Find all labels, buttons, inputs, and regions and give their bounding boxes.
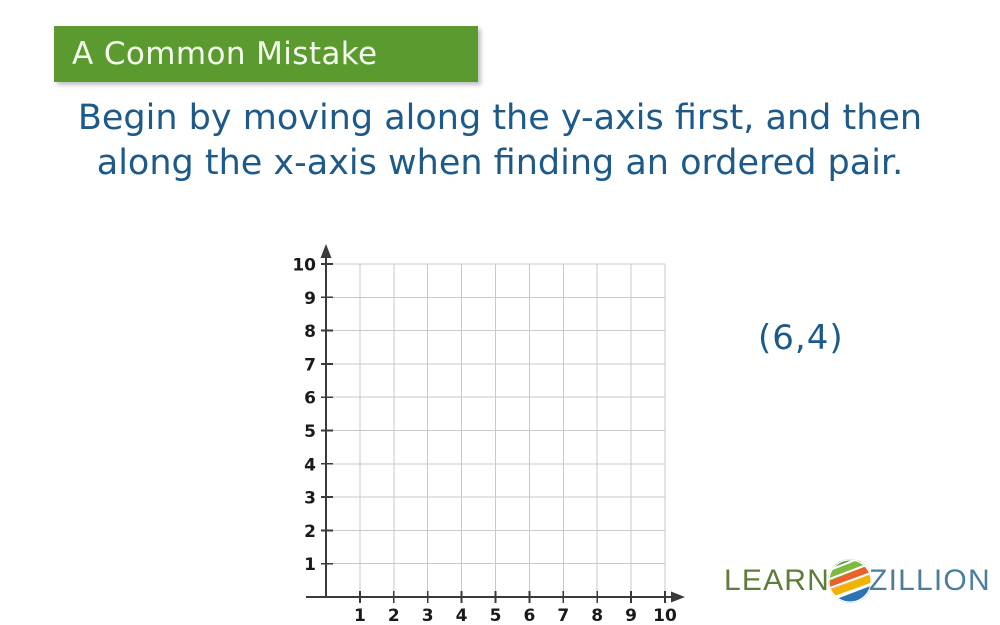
y-tick-label: 6 <box>304 389 316 409</box>
x-tick-label: 7 <box>557 606 569 623</box>
y-tick-label: 7 <box>304 355 316 375</box>
learnzillion-logo: LEARN <box>724 556 991 606</box>
y-tick-label: 3 <box>304 489 316 509</box>
logo-text-learn: LEARN <box>724 566 830 596</box>
globe-icon <box>827 558 873 604</box>
y-axis-arrow <box>321 244 332 258</box>
y-tick-label: 4 <box>304 455 316 475</box>
prompt-text: Begin by moving along the y-axis first, … <box>40 96 960 186</box>
x-tick-label: 2 <box>388 606 400 623</box>
x-tick-label: 8 <box>591 606 603 623</box>
x-axis-arrow <box>671 592 685 603</box>
ordered-pair-label: (6,4) <box>758 318 844 358</box>
x-tick-label: 6 <box>523 606 535 623</box>
y-tick-label: 2 <box>304 522 316 542</box>
axis-lines <box>306 254 675 597</box>
y-tick-label: 1 <box>304 555 316 575</box>
grid-lines <box>326 264 665 597</box>
y-tick-label: 10 <box>292 256 316 276</box>
x-tick-label: 10 <box>653 606 677 623</box>
y-tick-label: 9 <box>304 289 316 309</box>
x-tick-label: 1 <box>354 606 366 623</box>
y-tick-label: 5 <box>304 422 316 442</box>
x-axis-tick-labels: 1 2 3 4 5 6 7 8 9 10 <box>354 606 677 623</box>
title-banner: A Common Mistake <box>54 26 478 82</box>
page-title: A Common Mistake <box>72 39 378 70</box>
coordinate-grid: 10 9 8 7 6 5 4 3 2 1 1 2 3 4 5 6 7 8 9 1… <box>280 238 690 623</box>
x-tick-label: 4 <box>456 606 468 623</box>
x-tick-label: 9 <box>625 606 637 623</box>
logo-text-zillion: ZILLION <box>869 566 991 596</box>
y-axis-tick-labels: 10 9 8 7 6 5 4 3 2 1 <box>292 256 316 576</box>
x-tick-label: 3 <box>422 606 434 623</box>
y-tick-label: 8 <box>304 322 316 342</box>
x-tick-label: 5 <box>490 606 502 623</box>
